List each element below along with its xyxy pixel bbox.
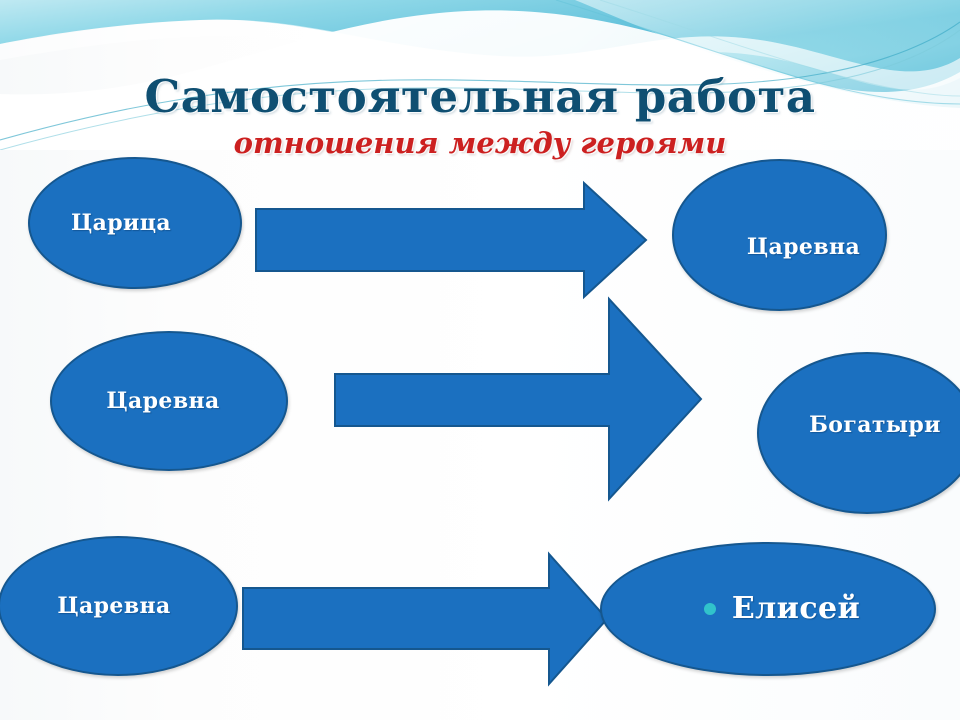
right-arrow-icon xyxy=(241,551,611,687)
bullet-dot-icon xyxy=(704,603,716,615)
right-arrow-icon xyxy=(333,296,705,502)
node-label: Царевна xyxy=(106,388,219,414)
node-caritsa[interactable]: Царица xyxy=(28,157,242,289)
node-elisey[interactable]: Елисей xyxy=(600,542,936,676)
node-label: Богатыри xyxy=(809,412,941,438)
node-tsarevna-bottom-left[interactable]: Царевна xyxy=(0,536,238,676)
node-label: Царица xyxy=(71,210,171,236)
node-label: Елисей xyxy=(732,592,860,626)
right-arrow-icon xyxy=(254,181,650,299)
slide-canvas: Самостоятельная работа отношения между г… xyxy=(0,0,960,720)
page-subtitle: отношения между героями xyxy=(0,126,960,160)
node-label: Царевна xyxy=(747,234,860,260)
title-block: Самостоятельная работа отношения между г… xyxy=(0,72,960,160)
page-title: Самостоятельная работа xyxy=(0,72,960,122)
node-tsarevna-middle-left[interactable]: Царевна xyxy=(50,331,288,471)
node-bogatyri[interactable]: Богатыри xyxy=(757,352,960,514)
node-tsarevna-top-right[interactable]: Царевна xyxy=(672,159,887,311)
node-label: Царевна xyxy=(57,593,170,619)
node-label-row: Елисей xyxy=(704,592,860,626)
